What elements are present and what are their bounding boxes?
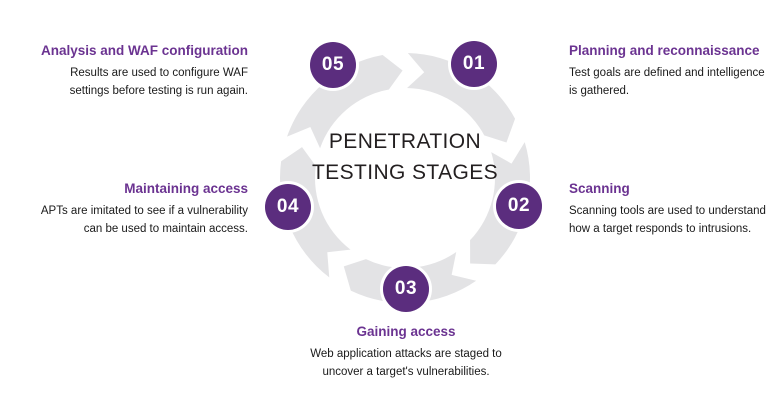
- stage-body-03: Web application attacks are staged to un…: [278, 346, 534, 381]
- stage-title-03: Gaining access: [278, 323, 534, 341]
- stage-body-05-line-2: settings before testing is run again.: [16, 83, 248, 101]
- stage-body-03-line-1: Web application attacks are staged to: [278, 346, 534, 364]
- stage-body-04-line-1: APTs are imitated to see if a vulnerabil…: [8, 203, 248, 221]
- stage-badge-04[interactable]: 04: [265, 184, 311, 230]
- stage-body-05-line-1: Results are used to configure WAF: [16, 65, 248, 83]
- stage-badge-02[interactable]: 02: [496, 183, 542, 229]
- stage-label-04: Maintaining access APTs are imitated to …: [8, 180, 248, 238]
- stage-body-04-line-2: can be used to maintain access.: [8, 221, 248, 239]
- stage-title-02: Scanning: [569, 180, 776, 198]
- stage-badge-05[interactable]: 05: [310, 42, 356, 88]
- stage-body-05: Results are used to configure WAF settin…: [16, 65, 248, 100]
- stage-title-04: Maintaining access: [8, 180, 248, 198]
- stage-label-05: Analysis and WAF configuration Results a…: [16, 42, 248, 100]
- center-title-line-2: TESTING STAGES: [305, 157, 505, 188]
- stage-badge-03[interactable]: 03: [383, 266, 429, 312]
- stage-body-02: Scanning tools are used to understand ho…: [569, 203, 776, 238]
- stage-label-01: Planning and reconnaissance Test goals a…: [569, 42, 774, 100]
- stage-label-03: Gaining access Web application attacks a…: [278, 323, 534, 381]
- stage-badge-01[interactable]: 01: [451, 41, 497, 87]
- stage-body-02-line-1: Scanning tools are used to understand: [569, 203, 776, 221]
- infographic-canvas: PENETRATION TESTING STAGES 01 02 03 04 0…: [0, 0, 776, 407]
- stage-body-03-line-2: uncover a target's vulnerabilities.: [278, 364, 534, 382]
- stage-label-02: Scanning Scanning tools are used to unde…: [569, 180, 776, 238]
- center-title-line-1: PENETRATION: [305, 126, 505, 157]
- stage-body-01-line-1: Test goals are defined and intelligence: [569, 65, 774, 83]
- stage-body-04: APTs are imitated to see if a vulnerabil…: [8, 203, 248, 238]
- stage-body-02-line-2: how a target responds to intrusions.: [569, 221, 776, 239]
- stage-body-01-line-2: is gathered.: [569, 83, 774, 101]
- stage-body-01: Test goals are defined and intelligence …: [569, 65, 774, 100]
- diagram-center-title: PENETRATION TESTING STAGES: [305, 126, 505, 188]
- stage-title-05: Analysis and WAF configuration: [16, 42, 248, 60]
- stage-title-01: Planning and reconnaissance: [569, 42, 774, 60]
